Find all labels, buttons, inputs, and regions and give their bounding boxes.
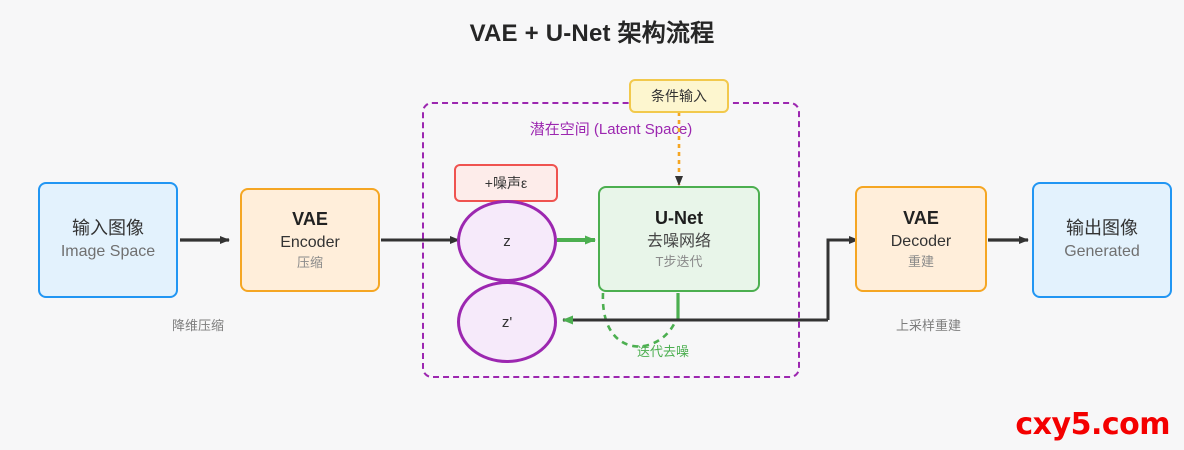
latent-z-label: z xyxy=(503,233,511,250)
edge-latent-to-decoder xyxy=(828,240,858,320)
latent-space-label: 潜在空间 (Latent Space) xyxy=(422,118,800,139)
unet-subtitle: 去噪网络 xyxy=(647,231,711,252)
output-image-title: 输出图像 xyxy=(1066,217,1138,241)
vae-encoder-subtitle: Encoder xyxy=(280,232,340,253)
noise-label: +噪声ε xyxy=(485,174,527,192)
caption-decode: 上采样重建 xyxy=(896,315,961,334)
node-condition-input[interactable]: 条件输入 xyxy=(629,79,729,113)
node-noise[interactable]: +噪声ε xyxy=(454,164,558,202)
watermark: cxy5.com xyxy=(1015,407,1170,442)
node-latent-z-prime[interactable]: z' xyxy=(457,281,557,363)
page-title: VAE + U-Net 架构流程 xyxy=(0,13,1184,48)
node-unet[interactable]: U-Net 去噪网络 T步迭代 xyxy=(598,186,760,292)
unet-note: T步迭代 xyxy=(656,253,703,271)
latent-z-prime-label: z' xyxy=(502,314,512,331)
diagram-canvas: VAE + U-Net 架构流程 潜在空间 (Latent Space) xyxy=(0,0,1184,450)
input-image-title: 输入图像 xyxy=(72,217,144,241)
input-image-subtitle: Image Space xyxy=(61,241,155,262)
node-latent-z[interactable]: z xyxy=(457,200,557,282)
unet-title: U-Net xyxy=(655,207,703,231)
vae-encoder-note: 压缩 xyxy=(297,254,323,272)
node-vae-decoder[interactable]: VAE Decoder 重建 xyxy=(855,186,987,292)
caption-encode: 降维压缩 xyxy=(172,315,224,334)
vae-decoder-title: VAE xyxy=(903,207,939,231)
node-vae-encoder[interactable]: VAE Encoder 压缩 xyxy=(240,188,380,292)
node-output-image[interactable]: 输出图像 Generated xyxy=(1032,182,1172,298)
output-image-subtitle: Generated xyxy=(1064,241,1140,262)
vae-decoder-note: 重建 xyxy=(908,253,934,271)
node-input-image[interactable]: 输入图像 Image Space xyxy=(38,182,178,298)
vae-decoder-subtitle: Decoder xyxy=(891,231,951,252)
condition-input-label: 条件输入 xyxy=(651,87,707,105)
caption-iterative-denoise: 迭代去噪 xyxy=(637,341,689,360)
vae-encoder-title: VAE xyxy=(292,208,328,232)
